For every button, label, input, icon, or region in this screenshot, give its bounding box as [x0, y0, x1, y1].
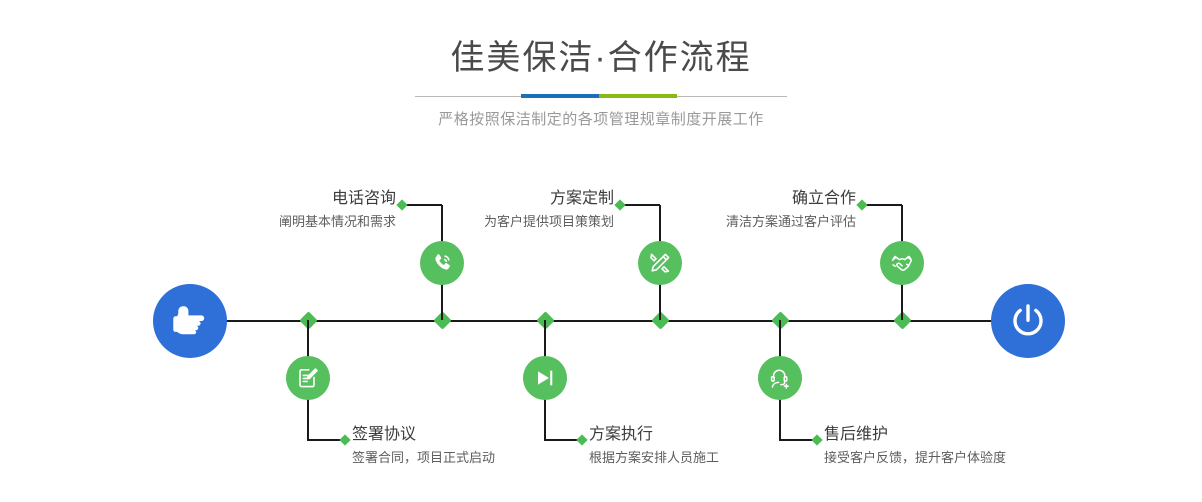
step-icon-3[interactable]: [638, 241, 682, 285]
header: 佳美保洁·合作流程 严格按照保洁制定的各项管理规章制度开展工作: [0, 36, 1202, 131]
leader-dot-step-5: [856, 199, 867, 210]
step-icon-5[interactable]: [880, 241, 924, 285]
step-icon-1[interactable]: [420, 241, 464, 285]
step-desc-5: 清洁方案通过客户评估: [556, 212, 856, 232]
process-flow-infographic: 佳美保洁·合作流程 严格按照保洁制定的各项管理规章制度开展工作: [0, 0, 1202, 502]
document-edit-icon: [296, 366, 320, 390]
pointing-hand-icon: [170, 304, 210, 338]
step-desc-6: 接受客户反馈，提升客户体验度: [824, 448, 1164, 468]
play-forward-icon: [533, 366, 557, 390]
leader-dot-step-2: [339, 434, 350, 445]
step-label-6: 售后维护 接受客户反馈，提升客户体验度: [824, 424, 1164, 468]
phone-call-icon: [430, 251, 454, 275]
step-label-5: 确立合作 清洁方案通过客户评估: [556, 188, 856, 232]
step-icon-6[interactable]: [758, 356, 802, 400]
step-icon-2[interactable]: [286, 356, 330, 400]
step-title-6: 售后维护: [824, 424, 1164, 446]
timeline-end-node: [991, 284, 1065, 358]
title-divider: [415, 94, 787, 98]
headset-support-icon: [768, 366, 792, 390]
step-title-5: 确立合作: [556, 188, 856, 210]
timeline-axis: [155, 320, 1047, 322]
page-subtitle: 严格按照保洁制定的各项管理规章制度开展工作: [0, 109, 1202, 131]
step-icon-4[interactable]: [523, 356, 567, 400]
divider-segment-blue: [521, 94, 599, 98]
connector-arm-step-5: [864, 204, 902, 206]
handshake-icon: [890, 251, 914, 275]
page-title: 佳美保洁·合作流程: [0, 36, 1202, 80]
divider-segment-green: [599, 94, 677, 98]
timeline-start-node: [153, 284, 227, 358]
pencil-ruler-icon: [648, 251, 672, 275]
power-icon: [1009, 302, 1047, 340]
